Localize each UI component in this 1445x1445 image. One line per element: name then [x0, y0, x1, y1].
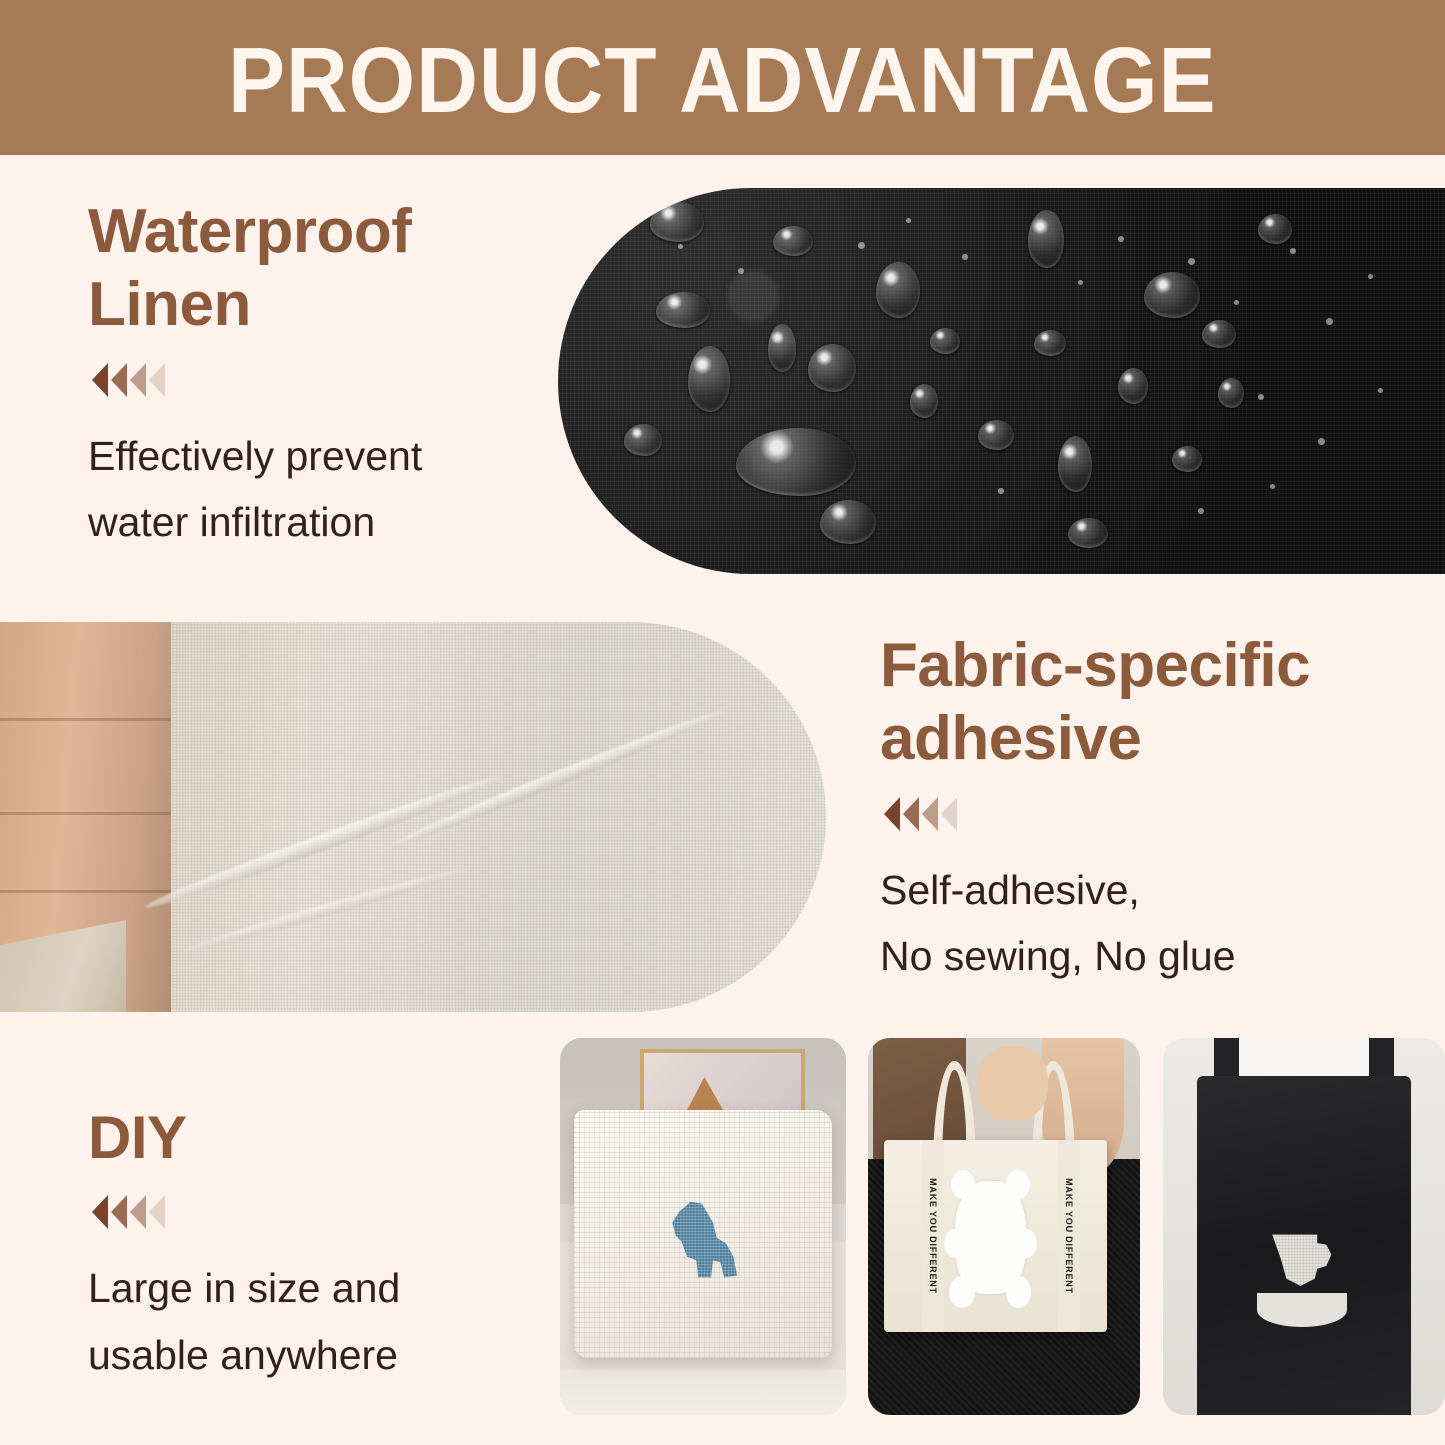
water-droplet: [808, 344, 856, 392]
water-droplet: [1202, 320, 1236, 348]
feature-heading: DIY: [88, 1103, 538, 1173]
finger-crease: [0, 812, 171, 815]
water-mist: [906, 218, 911, 223]
water-droplet: [773, 226, 813, 256]
photo-pillow-dog-patch: [560, 1038, 846, 1415]
water-droplet: [624, 424, 662, 456]
water-droplet: [768, 324, 796, 372]
model-hand: [977, 1046, 1048, 1121]
chevron-divider: [92, 363, 548, 397]
feature-block-waterproof: Waterproof Linen Effectively prevent wat…: [88, 196, 548, 556]
finger-crease: [0, 890, 171, 893]
header-banner: PRODUCT ADVANTAGE: [0, 0, 1445, 155]
chevron-left-icon: [130, 1195, 146, 1229]
water-mist: [1270, 484, 1275, 489]
photo-apron-cup-patch: [1163, 1038, 1445, 1415]
tote-strap-text: MAKE YOU DIFFERENT: [928, 1178, 938, 1294]
chevron-left-icon: [903, 797, 919, 831]
page-title: PRODUCT ADVANTAGE: [228, 28, 1216, 127]
feature-block-adhesive: Fabric-specific adhesive Self-adhesive, …: [880, 630, 1420, 990]
water-mist: [1368, 274, 1373, 279]
product-advantage-infographic: PRODUCT ADVANTAGE: [0, 0, 1445, 1445]
bear-leg: [949, 1276, 974, 1308]
water-droplet: [978, 420, 1014, 450]
chevron-left-icon: [149, 1195, 165, 1229]
water-mist: [1118, 236, 1124, 242]
tote-strap-right: MAKE YOU DIFFERENT: [1058, 1140, 1080, 1332]
chevron-divider: [884, 797, 1420, 831]
feature-block-diy: DIY Large in size and usable anywhere: [88, 1103, 538, 1388]
water-mist: [998, 488, 1004, 494]
water-droplet: [650, 202, 704, 242]
water-droplet: [1028, 210, 1064, 268]
bear-ear: [951, 1170, 975, 1199]
chevron-left-icon: [111, 1195, 127, 1229]
water-mist: [1326, 318, 1333, 325]
water-droplet: [1118, 368, 1148, 404]
water-mist: [1290, 248, 1296, 254]
chevron-left-icon: [922, 797, 938, 831]
pillow: [574, 1110, 831, 1359]
water-mist: [1078, 280, 1083, 285]
water-droplet: [1058, 436, 1092, 492]
finger-crease: [0, 718, 171, 721]
bear-arm: [944, 1229, 967, 1258]
chevron-left-icon: [92, 1195, 108, 1229]
water-droplet: [1034, 330, 1066, 356]
apron-body: [1197, 1076, 1411, 1415]
water-droplet: [1144, 272, 1200, 318]
feature-body: Self-adhesive, No sewing, No glue: [880, 857, 1420, 990]
chevron-left-icon: [149, 363, 165, 397]
water-mist: [858, 242, 865, 249]
feature-heading: Waterproof Linen: [88, 196, 548, 341]
water-droplet: [1258, 214, 1292, 244]
chevron-divider: [92, 1195, 538, 1229]
water-mist: [678, 244, 683, 249]
photo-tote-bear-patch: MAKE YOU DIFFERENT MAKE YOU DIFFERENT: [868, 1038, 1140, 1415]
water-droplet: [930, 328, 960, 354]
bear-arm: [1014, 1229, 1037, 1258]
water-mist: [1258, 394, 1264, 400]
feature-body: Effectively prevent water infiltration: [88, 423, 548, 556]
bear-silhouette-patch: [955, 1181, 1026, 1294]
tote-strap-text: MAKE YOU DIFFERENT: [1064, 1178, 1074, 1294]
water-droplet: [656, 292, 710, 328]
water-mist: [1198, 508, 1204, 514]
water-droplet: [736, 428, 856, 496]
chevron-left-icon: [941, 797, 957, 831]
water-mist: [962, 254, 968, 260]
water-droplet: [876, 262, 920, 318]
feature-heading: Fabric-specific adhesive: [880, 630, 1420, 775]
water-droplet: [910, 384, 938, 418]
water-droplet: [820, 500, 876, 544]
chevron-left-icon: [111, 363, 127, 397]
water-mist: [1188, 258, 1195, 265]
water-droplet: [1068, 518, 1108, 548]
water-mist: [1234, 300, 1239, 305]
bear-ear: [1006, 1170, 1030, 1199]
saucer-silhouette-patch: [1257, 1293, 1347, 1327]
water-mist: [1318, 438, 1325, 445]
water-mist: [1378, 388, 1383, 393]
feature-body: Large in size and usable anywhere: [88, 1255, 538, 1388]
photo-linen-hand: [0, 622, 826, 1012]
water-droplet: [1172, 446, 1202, 472]
chevron-left-icon: [92, 363, 108, 397]
chevron-left-icon: [130, 363, 146, 397]
chevron-left-icon: [884, 797, 900, 831]
water-droplet: [1218, 378, 1244, 408]
water-mist: [738, 268, 744, 274]
water-droplet: [688, 346, 730, 412]
tote-strap-left: MAKE YOU DIFFERENT: [922, 1140, 944, 1332]
photo-waterproof-fabric: [558, 188, 1445, 574]
